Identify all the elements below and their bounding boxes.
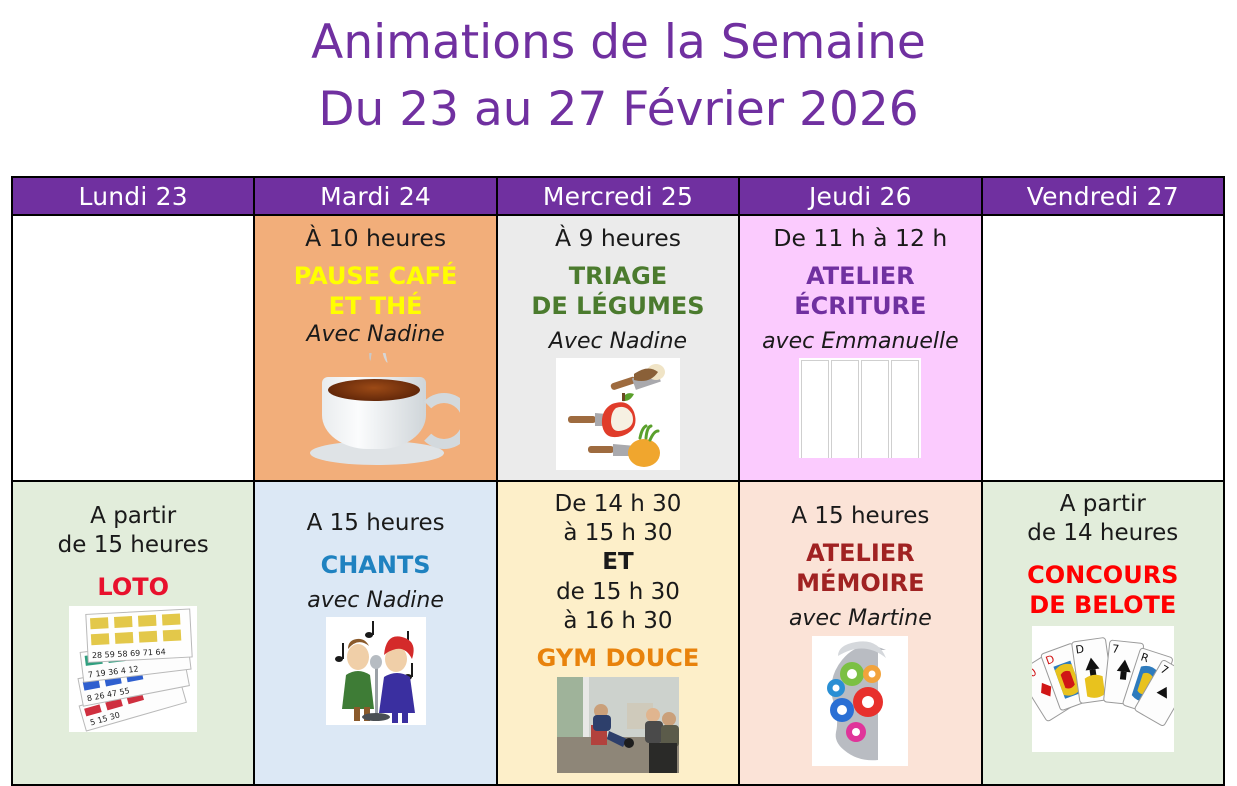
singers-image	[326, 617, 426, 725]
mardi-afternoon-activity: CHANTS	[258, 550, 492, 580]
mercredi-morning-time: À 9 heures	[501, 224, 735, 254]
jeudi-morning-activity-line2: ÉCRITURE	[743, 291, 977, 321]
mercredi-afternoon-time-line2: à 15 h 30	[501, 519, 735, 548]
cell-vendredi-afternoon-content: A partir de 14 heures CONCOURS DE BELOTE	[983, 482, 1223, 784]
jeudi-morning-time: De 11 h à 12 h	[743, 224, 977, 254]
jeudi-afternoon-host: avec Martine	[743, 605, 977, 633]
lundi-afternoon-activity: LOTO	[16, 572, 250, 602]
weekly-activities-table: Lundi 23 Mardi 24 Mercredi 25 Jeudi 26 V…	[11, 176, 1225, 786]
memory-head-image	[812, 636, 908, 766]
mardi-afternoon-host: avec Nadine	[258, 587, 492, 615]
abc-cell-r1c4: B	[891, 360, 919, 458]
mercredi-morning-activity-line2: DE LÉGUMES	[501, 291, 735, 321]
vegetables-image	[556, 358, 680, 470]
abc-cell-r1c3: A	[861, 360, 889, 458]
cell-mardi-morning-content: À 10 heures PAUSE CAFÉ ET THÉ Avec Nadin…	[255, 216, 495, 480]
cell-vendredi-afternoon: A partir de 14 heures CONCOURS DE BELOTE	[982, 481, 1224, 785]
cell-mercredi-afternoon: De 14 h 30 à 15 h 30 ET de 15 h 30 à 16 …	[497, 481, 739, 785]
cell-mardi-afternoon: A 15 heures CHANTS avec Nadine	[254, 481, 496, 785]
cell-jeudi-morning-content: De 11 h à 12 h ATELIER ÉCRITURE avec Emm…	[740, 216, 980, 480]
mercredi-afternoon-time-line4: de 15 h 30	[501, 578, 735, 607]
mercredi-morning-activity-line1: TRIAGE	[501, 261, 735, 291]
svg-text:7: 7	[1111, 643, 1119, 657]
abc-cell-r1c2: B	[831, 360, 859, 458]
cell-mercredi-afternoon-content: De 14 h 30 à 15 h 30 ET de 15 h 30 à 16 …	[498, 482, 738, 784]
page-title: Animations de la Semaine Du 23 au 27 Fév…	[0, 10, 1237, 143]
column-header-jeudi: Jeudi 26	[739, 177, 981, 215]
gym-photo-image	[557, 677, 679, 773]
jeudi-afternoon-activity-line1: ATELIER	[743, 538, 977, 568]
cell-mardi-morning: À 10 heures PAUSE CAFÉ ET THÉ Avec Nadin…	[254, 215, 496, 481]
cell-lundi-morning-content	[13, 216, 253, 480]
cell-lundi-afternoon: A partir de 15 heures LOTO	[12, 481, 254, 785]
cell-mercredi-morning: À 9 heures TRIAGE DE LÉGUMES Avec Nadine	[497, 215, 739, 481]
svg-text:D: D	[1075, 643, 1085, 657]
jeudi-morning-host: avec Emmanuelle	[743, 328, 977, 356]
column-header-mardi: Mardi 24	[254, 177, 496, 215]
title-line-1: Animations de la Semaine	[0, 10, 1237, 77]
cell-jeudi-afternoon-content: A 15 heures ATELIER MÉMOIRE avec Martine	[740, 482, 980, 784]
abc-cell-r1c1: A	[801, 360, 829, 458]
mardi-morning-host: Avec Nadine	[258, 321, 492, 349]
cell-jeudi-morning: De 11 h à 12 h ATELIER ÉCRITURE avec Emm…	[739, 215, 981, 481]
title-line-2: Du 23 au 27 Février 2026	[0, 77, 1237, 144]
mercredi-afternoon-time-line1: De 14 h 30	[501, 490, 735, 519]
cell-mercredi-morning-content: À 9 heures TRIAGE DE LÉGUMES Avec Nadine	[498, 216, 738, 480]
mardi-morning-time: À 10 heures	[258, 224, 492, 254]
alphabet-cards-image: A B A B a b a b	[799, 358, 921, 458]
poster-page: Animations de la Semaine Du 23 au 27 Fév…	[0, 0, 1237, 784]
cell-lundi-afternoon-content: A partir de 15 heures LOTO	[13, 482, 253, 784]
mercredi-afternoon-time-line3: ET	[501, 548, 735, 577]
cell-vendredi-morning	[982, 215, 1224, 481]
mercredi-afternoon-activity: GYM DOUCE	[501, 643, 735, 673]
morning-row: À 10 heures PAUSE CAFÉ ET THÉ Avec Nadin…	[12, 215, 1224, 481]
vendredi-afternoon-time-line1: A partir	[986, 490, 1220, 519]
vendredi-afternoon-time-line2: de 14 heures	[986, 519, 1220, 548]
cell-mardi-afternoon-content: A 15 heures CHANTS avec Nadine	[255, 482, 495, 784]
lundi-afternoon-time-line2: de 15 heures	[16, 531, 250, 560]
coffee-cup-image	[292, 353, 460, 471]
mercredi-afternoon-time-line5: à 16 h 30	[501, 607, 735, 636]
column-header-mercredi: Mercredi 25	[497, 177, 739, 215]
mercredi-morning-host: Avec Nadine	[501, 328, 735, 356]
jeudi-afternoon-time: A 15 heures	[743, 502, 977, 531]
cell-jeudi-afternoon: A 15 heures ATELIER MÉMOIRE avec Martine	[739, 481, 981, 785]
mardi-afternoon-time: A 15 heures	[258, 509, 492, 538]
mardi-morning-activity-line1: PAUSE CAFÉ	[258, 261, 492, 291]
vendredi-afternoon-activity-line2: DE BELOTE	[986, 590, 1220, 620]
jeudi-morning-activity-line1: ATELIER	[743, 261, 977, 291]
lundi-afternoon-time-line1: A partir	[16, 502, 250, 531]
cell-lundi-morning	[12, 215, 254, 481]
column-header-vendredi: Vendredi 27	[982, 177, 1224, 215]
afternoon-row: A partir de 15 heures LOTO	[12, 481, 1224, 785]
table-header-row: Lundi 23 Mardi 24 Mercredi 25 Jeudi 26 V…	[12, 177, 1224, 215]
cell-vendredi-morning-content	[983, 216, 1223, 480]
mardi-morning-activity-line2: ET THÉ	[258, 291, 492, 321]
loto-cards-image: 5 15 30 8 26 47 55	[69, 606, 197, 732]
belote-cards-image: 10 D	[1032, 626, 1174, 752]
jeudi-afternoon-activity-line2: MÉMOIRE	[743, 568, 977, 598]
vendredi-afternoon-activity-line1: CONCOURS	[986, 560, 1220, 590]
column-header-lundi: Lundi 23	[12, 177, 254, 215]
